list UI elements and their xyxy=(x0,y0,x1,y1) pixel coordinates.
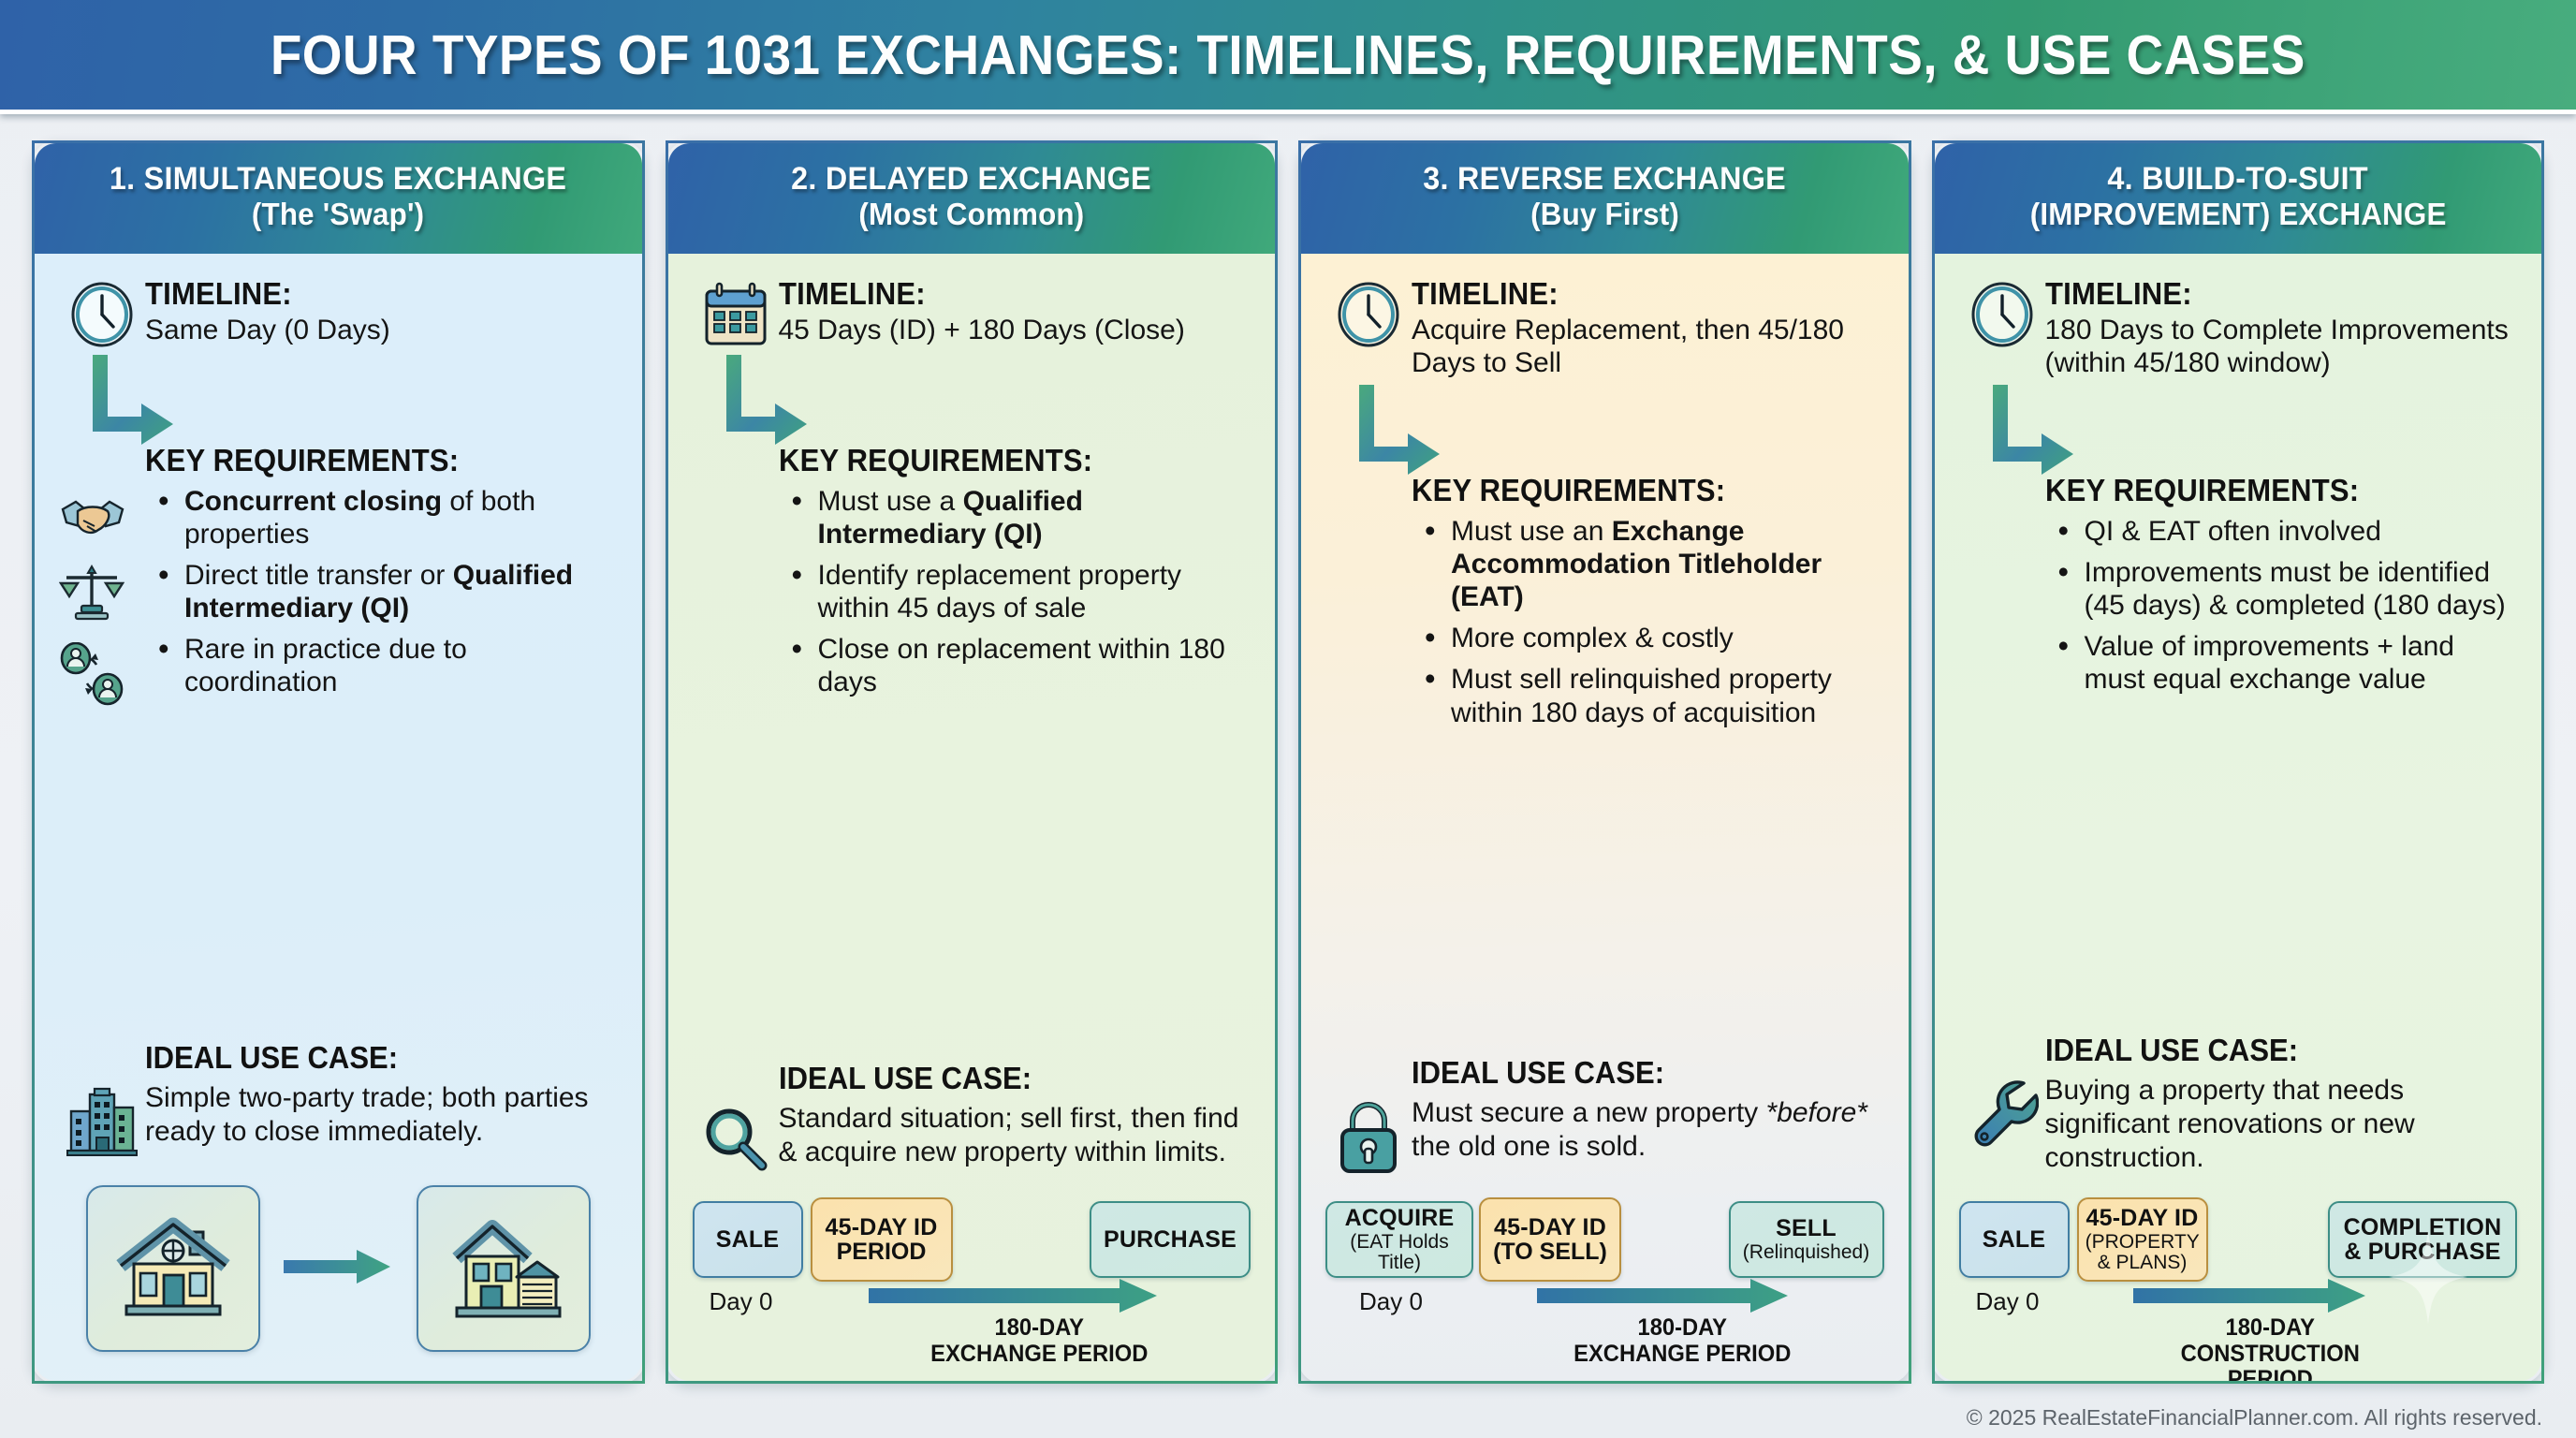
requirements-list-row: Concurrent closing of both properties Di… xyxy=(59,477,618,711)
requirements-heading: KEY REQUIREMENTS: xyxy=(145,445,589,477)
timeline-value: 45 Days (ID) + 180 Days (Close) xyxy=(779,314,1251,346)
timeline-diagram: ACQUIRE (EAT Holds Title) 45-DAY ID (TO … xyxy=(1325,1196,1884,1362)
elbow-arrow-icon xyxy=(1959,383,2518,473)
usecase-heading: IDEAL USE CASE: xyxy=(1412,1055,1855,1091)
day-zero-label: Day 0 xyxy=(1359,1287,1423,1316)
scales-icon xyxy=(59,563,145,627)
timeline-text-block: TIMELINE: Acquire Replacement, then 45/1… xyxy=(1412,278,1884,379)
elbow-arrow-icon xyxy=(693,353,1251,443)
handshake-icon xyxy=(59,494,145,548)
diagram-chip-acquire: ACQUIRE (EAT Holds Title) xyxy=(1325,1201,1473,1278)
timeline-section: TIMELINE: 180 Days to Complete Improveme… xyxy=(1959,278,2518,379)
timeline-value: Acquire Replacement, then 45/180 Days to… xyxy=(1412,314,1884,380)
card-body: TIMELINE: Same Day (0 Days) K xyxy=(35,254,642,1381)
cards-row: 1. SIMULTANEOUS EXCHANGE (The 'Swap') xyxy=(0,114,2576,1384)
card-title-line2: (The 'Swap') xyxy=(252,198,424,232)
usecase-section: IDEAL USE CASE: xyxy=(59,1040,618,1158)
flow-arrow-icon xyxy=(869,1278,1159,1318)
requirement-item: Close on replacement within 180 days xyxy=(786,633,1251,698)
diagram-chip-id-period: 45-DAY ID PERIOD xyxy=(811,1197,953,1282)
usecase-section: IDEAL USE CASE: Buying xyxy=(1959,1033,2518,1175)
requirement-item: Must use an Exchange Accommodation Title… xyxy=(1419,515,1884,613)
card-header: 3. REVERSE EXCHANGE (Buy First) xyxy=(1301,143,1909,254)
card-body: TIMELINE: 180 Days to Complete Improveme… xyxy=(1935,254,2542,1381)
usecase-heading: IDEAL USE CASE: xyxy=(2045,1033,2489,1068)
requirements-section: KEY REQUIREMENTS: Must use an Exchange A… xyxy=(1325,475,1884,737)
diagram-chip-id-period: 45-DAY ID (PROPERTY & PLANS) xyxy=(2077,1197,2208,1282)
timeline-diagram: SALE 45-DAY ID PERIOD PURCHASE Day 0 xyxy=(693,1196,1251,1362)
diagram-chip-sale: SALE xyxy=(1959,1201,2070,1278)
timeline-heading: TIMELINE: xyxy=(2045,278,2489,311)
page-title: FOUR TYPES OF 1031 EXCHANGES: TIMELINES,… xyxy=(271,23,2305,87)
card-header: 1. SIMULTANEOUS EXCHANGE (The 'Swap') xyxy=(35,143,642,254)
requirements-section: KEY REQUIREMENTS: Must use a Qualified I… xyxy=(693,445,1251,707)
requirement-item: Direct title transfer or Qualified Inter… xyxy=(153,559,618,624)
requirement-item: QI & EAT often involved xyxy=(2053,515,2518,548)
house-swap-diagram xyxy=(59,1175,618,1362)
usecase-text: Simple two-party trade; both parties rea… xyxy=(145,1081,618,1149)
card-title-line1: 2. DELAYED EXCHANGE xyxy=(791,161,1151,197)
requirements-list: Must use an Exchange Accommodation Title… xyxy=(1412,515,1884,729)
card-header: 4. BUILD-TO-SUIT (IMPROVEMENT) EXCHANGE xyxy=(1935,143,2542,254)
card-header: 2. DELAYED EXCHANGE (Most Common) xyxy=(668,143,1276,254)
requirement-item: Must sell relinquished property within 1… xyxy=(1419,663,1884,728)
clock-icon xyxy=(1959,278,2045,349)
requirements-heading: KEY REQUIREMENTS: xyxy=(779,445,1222,477)
diagram-chip-id-period: 45-DAY ID (TO SELL) xyxy=(1479,1197,1621,1282)
requirement-item: Value of improvements + land must equal … xyxy=(2053,630,2518,696)
usecase-text: Standard situation; sell first, then fin… xyxy=(779,1102,1251,1169)
lock-icon xyxy=(1325,1096,1412,1175)
timeline-heading: TIMELINE: xyxy=(779,278,1222,311)
timeline-text-block: TIMELINE: 45 Days (ID) + 180 Days (Close… xyxy=(779,278,1251,346)
requirements-list: Must use a Qualified Intermediary (QI) I… xyxy=(779,485,1251,699)
diagram-chip-sale: SALE xyxy=(693,1201,803,1278)
day-zero-label: Day 0 xyxy=(710,1287,773,1316)
diagram-chip-purchase: PURCHASE xyxy=(1090,1201,1251,1278)
timeline-section: TIMELINE: Acquire Replacement, then 45/1… xyxy=(1325,278,1884,379)
timeline-diagram: SALE 45-DAY ID (PROPERTY & PLANS) COMPLE… xyxy=(1959,1196,2518,1362)
timeline-heading: TIMELINE: xyxy=(145,278,589,311)
page-banner: FOUR TYPES OF 1031 EXCHANGES: TIMELINES,… xyxy=(0,0,2576,114)
requirement-item: Concurrent closing of both properties xyxy=(153,485,618,550)
house-garage-icon xyxy=(417,1185,591,1352)
requirements-section: KEY REQUIREMENTS: QI & EAT often involve… xyxy=(1959,475,2518,704)
usecase-emphasis: *before* xyxy=(1766,1097,1867,1128)
card-title-line2: (Buy First) xyxy=(1530,198,1679,232)
requirements-list: QI & EAT often involved Improvements mus… xyxy=(2045,515,2518,696)
requirements-heading: KEY REQUIREMENTS: xyxy=(2045,475,2489,507)
requirements-heading: KEY REQUIREMENTS: xyxy=(1412,475,1855,507)
card-simultaneous-exchange[interactable]: 1. SIMULTANEOUS EXCHANGE (The 'Swap') xyxy=(32,140,645,1384)
requirement-item: Rare in practice due to coordination xyxy=(153,633,618,698)
card-delayed-exchange[interactable]: 2. DELAYED EXCHANGE (Most Common) xyxy=(666,140,1279,1384)
card-body: TIMELINE: Acquire Replacement, then 45/1… xyxy=(1301,254,1909,1381)
people-swap-icon xyxy=(59,642,145,711)
office-building-icon xyxy=(59,1081,145,1158)
usecase-section: IDEAL USE CASE: Standard situation; sell… xyxy=(693,1061,1251,1175)
timeline-value: 180 Days to Complete Improvements (withi… xyxy=(2045,314,2518,380)
flow-label: 180-DAY CONSTRUCTION PERIOD xyxy=(2111,1315,2428,1384)
card-title-line2: (Most Common) xyxy=(858,198,1084,232)
clock-icon xyxy=(1325,278,1412,349)
clock-icon xyxy=(59,278,145,349)
timeline-section: TIMELINE: Same Day (0 Days) xyxy=(59,278,618,349)
usecase-heading: IDEAL USE CASE: xyxy=(145,1040,589,1076)
flow-label: 180-DAY EXCHANGE PERIOD xyxy=(861,1315,1217,1367)
requirement-item: Identify replacement property within 45 … xyxy=(786,559,1251,624)
requirements-list: Concurrent closing of both properties Di… xyxy=(145,485,618,699)
swap-arrow-icon xyxy=(284,1248,392,1290)
flow-arrow-icon xyxy=(1537,1278,1790,1318)
flow-label: 180-DAY EXCHANGE PERIOD xyxy=(1521,1315,1843,1367)
elbow-arrow-icon xyxy=(1325,383,1884,473)
infographic-page: FOUR TYPES OF 1031 EXCHANGES: TIMELINES,… xyxy=(0,0,2576,1438)
card-title-line1: 4. BUILD-TO-SUIT xyxy=(2107,161,2368,197)
card-title-line2: (IMPROVEMENT) EXCHANGE xyxy=(2029,198,2446,232)
footer-copyright: © 2025 RealEstateFinancialPlanner.com. A… xyxy=(1967,1405,2542,1431)
card-title-line1: 3. REVERSE EXCHANGE xyxy=(1423,161,1786,197)
card-body: TIMELINE: 45 Days (ID) + 180 Days (Close… xyxy=(668,254,1276,1381)
timeline-text-block: TIMELINE: 180 Days to Complete Improveme… xyxy=(2045,278,2518,379)
timeline-text-block: TIMELINE: Same Day (0 Days) xyxy=(145,278,618,346)
usecase-heading: IDEAL USE CASE: xyxy=(779,1061,1222,1096)
usecase-text: Must secure a new property *before* the … xyxy=(1412,1096,1884,1164)
timeline-section: TIMELINE: 45 Days (ID) + 180 Days (Close… xyxy=(693,278,1251,349)
wrench-icon xyxy=(1959,1074,2045,1151)
card-reverse-exchange[interactable]: 3. REVERSE EXCHANGE (Buy First) TIMEL xyxy=(1298,140,1911,1384)
card-build-to-suit-exchange[interactable]: 4. BUILD-TO-SUIT (IMPROVEMENT) EXCHANGE xyxy=(1932,140,2545,1384)
timeline-value: Same Day (0 Days) xyxy=(145,314,618,346)
usecase-text: Buying a property that needs significant… xyxy=(2045,1074,2518,1175)
usecase-section: IDEAL USE CASE: xyxy=(1325,1055,1884,1175)
diagram-chip-sell: SELL (Relinquished) xyxy=(1729,1201,1884,1278)
elbow-arrow-icon xyxy=(59,353,618,443)
timeline-heading: TIMELINE: xyxy=(1412,278,1855,311)
requirement-item: Improvements must be identified (45 days… xyxy=(2053,556,2518,622)
sparkle-icon xyxy=(2388,1230,2468,1328)
day-zero-label: Day 0 xyxy=(1976,1287,2040,1316)
requirement-item: Must use a Qualified Intermediary (QI) xyxy=(786,485,1251,550)
card-title-line1: 1. SIMULTANEOUS EXCHANGE xyxy=(110,161,566,197)
magnifier-icon xyxy=(693,1102,779,1175)
calendar-icon xyxy=(693,278,779,349)
house-icon xyxy=(86,1185,260,1352)
requirement-item: More complex & costly xyxy=(1419,622,1884,654)
flow-arrow-icon xyxy=(2133,1278,2367,1318)
